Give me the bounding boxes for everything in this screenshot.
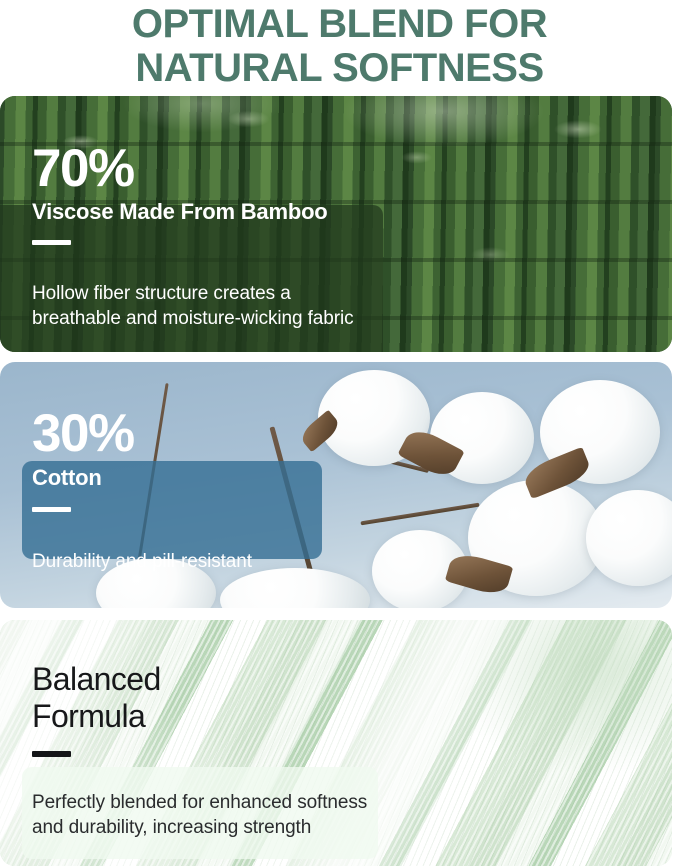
bamboo-material: Viscose Made From Bamboo: [32, 198, 432, 226]
fabric-material-line-1: Balanced: [32, 661, 161, 697]
bamboo-description: Hollow fiber structure creates a breatha…: [32, 281, 384, 331]
fabric-content: Balanced Formula Perfectly blended for e…: [32, 661, 432, 840]
fabric-material: Balanced Formula: [32, 661, 432, 735]
bamboo-divider: [32, 240, 71, 245]
fabric-divider: [32, 751, 71, 757]
fabric-material-line-2: Formula: [32, 698, 145, 734]
bamboo-content: 70% Viscose Made From Bamboo Hollow fibe…: [32, 141, 432, 331]
cotton-boll: [586, 490, 672, 586]
cotton-description: Durability and pill-resistant: [32, 549, 432, 574]
cotton-divider: [32, 507, 71, 512]
cotton-material: Cotton: [32, 464, 432, 492]
cotton-percent: 30%: [32, 406, 432, 462]
fabric-description: Perfectly blended for enhanced softness …: [32, 790, 382, 840]
page-title: OPTIMAL BLEND FOR NATURAL SOFTNESS: [0, 2, 679, 90]
cotton-content: 30% Cotton Durability and pill-resistant: [32, 406, 432, 574]
cotton-boll: [220, 568, 370, 608]
page-title-line-1: OPTIMAL BLEND FOR: [0, 2, 679, 46]
bamboo-percent: 70%: [32, 141, 432, 197]
page-title-line-2: NATURAL SOFTNESS: [0, 46, 679, 90]
infographic-page: OPTIMAL BLEND FOR NATURAL SOFTNESS 70% V…: [0, 0, 679, 866]
